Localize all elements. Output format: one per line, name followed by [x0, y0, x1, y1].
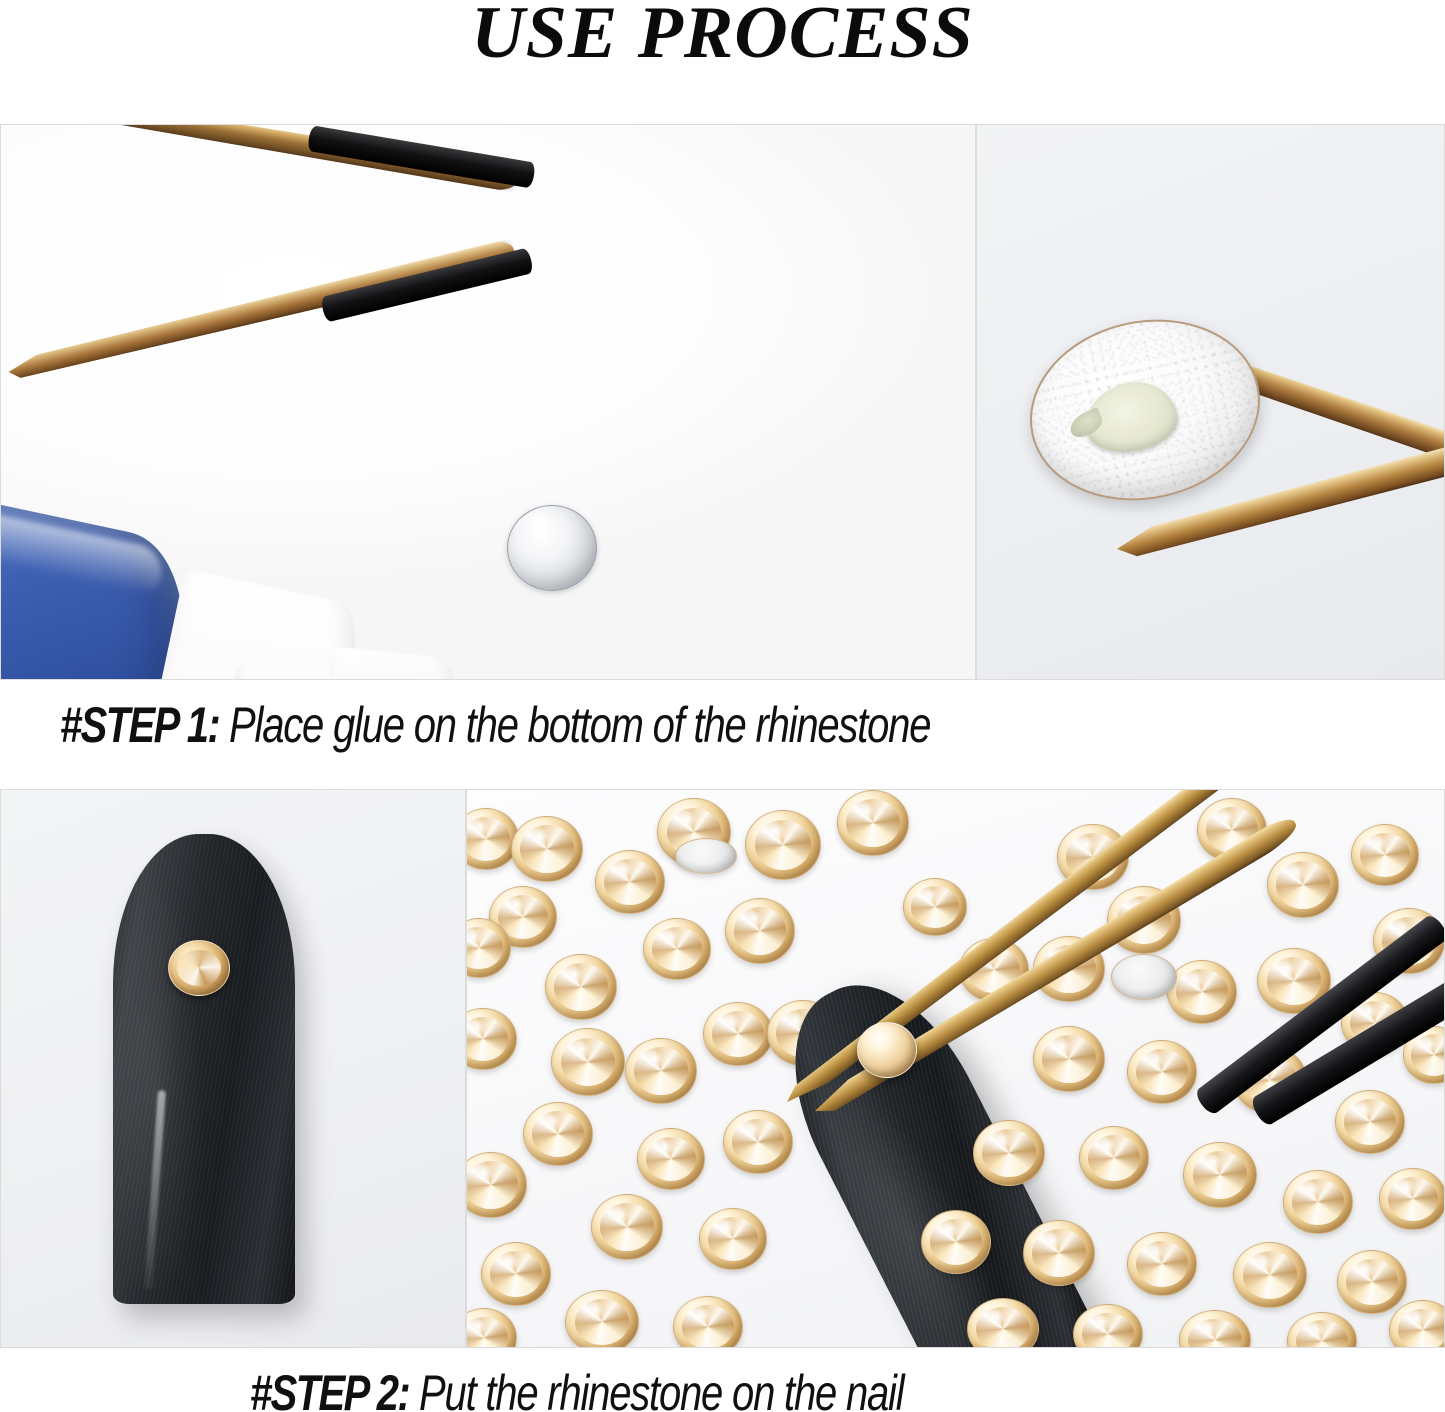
panel-glued-stone — [976, 124, 1445, 680]
rhinestone-scatter — [921, 1210, 991, 1274]
rhinestone-scatter — [565, 1290, 639, 1348]
use-process-infographic: USE PROCESS 0 2 — [0, 0, 1445, 1412]
rhinestone-scatter — [837, 790, 909, 856]
step-2-caption: #STEP 2: Put the rhinestone on the nail — [250, 1368, 903, 1412]
step-1-label: #STEP 1: — [60, 697, 219, 753]
panel-applying-stone — [466, 789, 1445, 1348]
rhinestone-flat-back-scatter — [1111, 954, 1177, 1000]
rhinestone-scatter — [903, 878, 967, 936]
rhinestone-scatter — [1033, 1026, 1105, 1092]
rhinestone-scatter — [745, 810, 821, 880]
rhinestone-scatter — [723, 1110, 793, 1174]
page-title: USE PROCESS — [0, 0, 1445, 70]
rhinestone-scatter — [591, 1194, 663, 1260]
rhinestone-scatter — [551, 1028, 625, 1096]
step-1-text: Place glue on the bottom of the rhinesto… — [219, 697, 930, 753]
rhinestone-scatter — [1127, 1040, 1197, 1104]
rhinestone-glint — [521, 511, 555, 537]
rhinestone-scatter — [1023, 1220, 1095, 1286]
rhinestone-scatter — [637, 1128, 705, 1190]
rhinestone-scatter — [625, 1038, 697, 1104]
rhinestone-scatter — [481, 1242, 551, 1306]
rhinestone-scatter — [511, 816, 583, 882]
rhinestone-scatter — [1267, 852, 1339, 918]
glue-bottle-tip — [324, 646, 461, 680]
rhinestone-scatter — [1351, 824, 1419, 886]
rhinestone-flat-back-scatter — [675, 838, 737, 874]
rhinestone-scatter — [643, 918, 711, 980]
rhinestone-being-placed — [857, 1022, 917, 1078]
rhinestone-on-nail — [168, 940, 230, 996]
rhinestone-scatter — [1183, 1142, 1257, 1208]
panel-finished-nail — [0, 789, 466, 1348]
rhinestone-scatter — [725, 898, 795, 964]
rhinestone-scatter — [1379, 1168, 1445, 1230]
rhinestone-scatter — [1079, 1126, 1149, 1190]
rhinestone-scatter — [1337, 1250, 1407, 1314]
rhinestone-scatter — [1167, 960, 1237, 1024]
step-1-caption: #STEP 1: Place glue on the bottom of the… — [60, 700, 930, 750]
rhinestone-scatter — [595, 850, 665, 914]
panel-glue-bottle: 0 2 — [0, 124, 976, 680]
step-2-label: #STEP 2: — [250, 1365, 409, 1412]
step-1-image-row: 0 2 — [0, 124, 1445, 680]
step-2-image-row — [0, 789, 1445, 1348]
step-2-text: Put the rhinestone on the nail — [409, 1365, 903, 1412]
rhinestone-scatter — [1127, 1232, 1197, 1296]
rhinestone-scatter — [1335, 1090, 1405, 1154]
rhinestone-scatter — [545, 954, 617, 1020]
rhinestone-scatter — [523, 1102, 593, 1166]
rhinestone-scatter — [973, 1120, 1045, 1186]
rhinestone-scatter — [1233, 1242, 1307, 1308]
rhinestone-scatter — [1283, 1170, 1353, 1234]
rhinestone-scatter — [699, 1208, 767, 1270]
nail-tip-dark — [113, 834, 295, 1304]
